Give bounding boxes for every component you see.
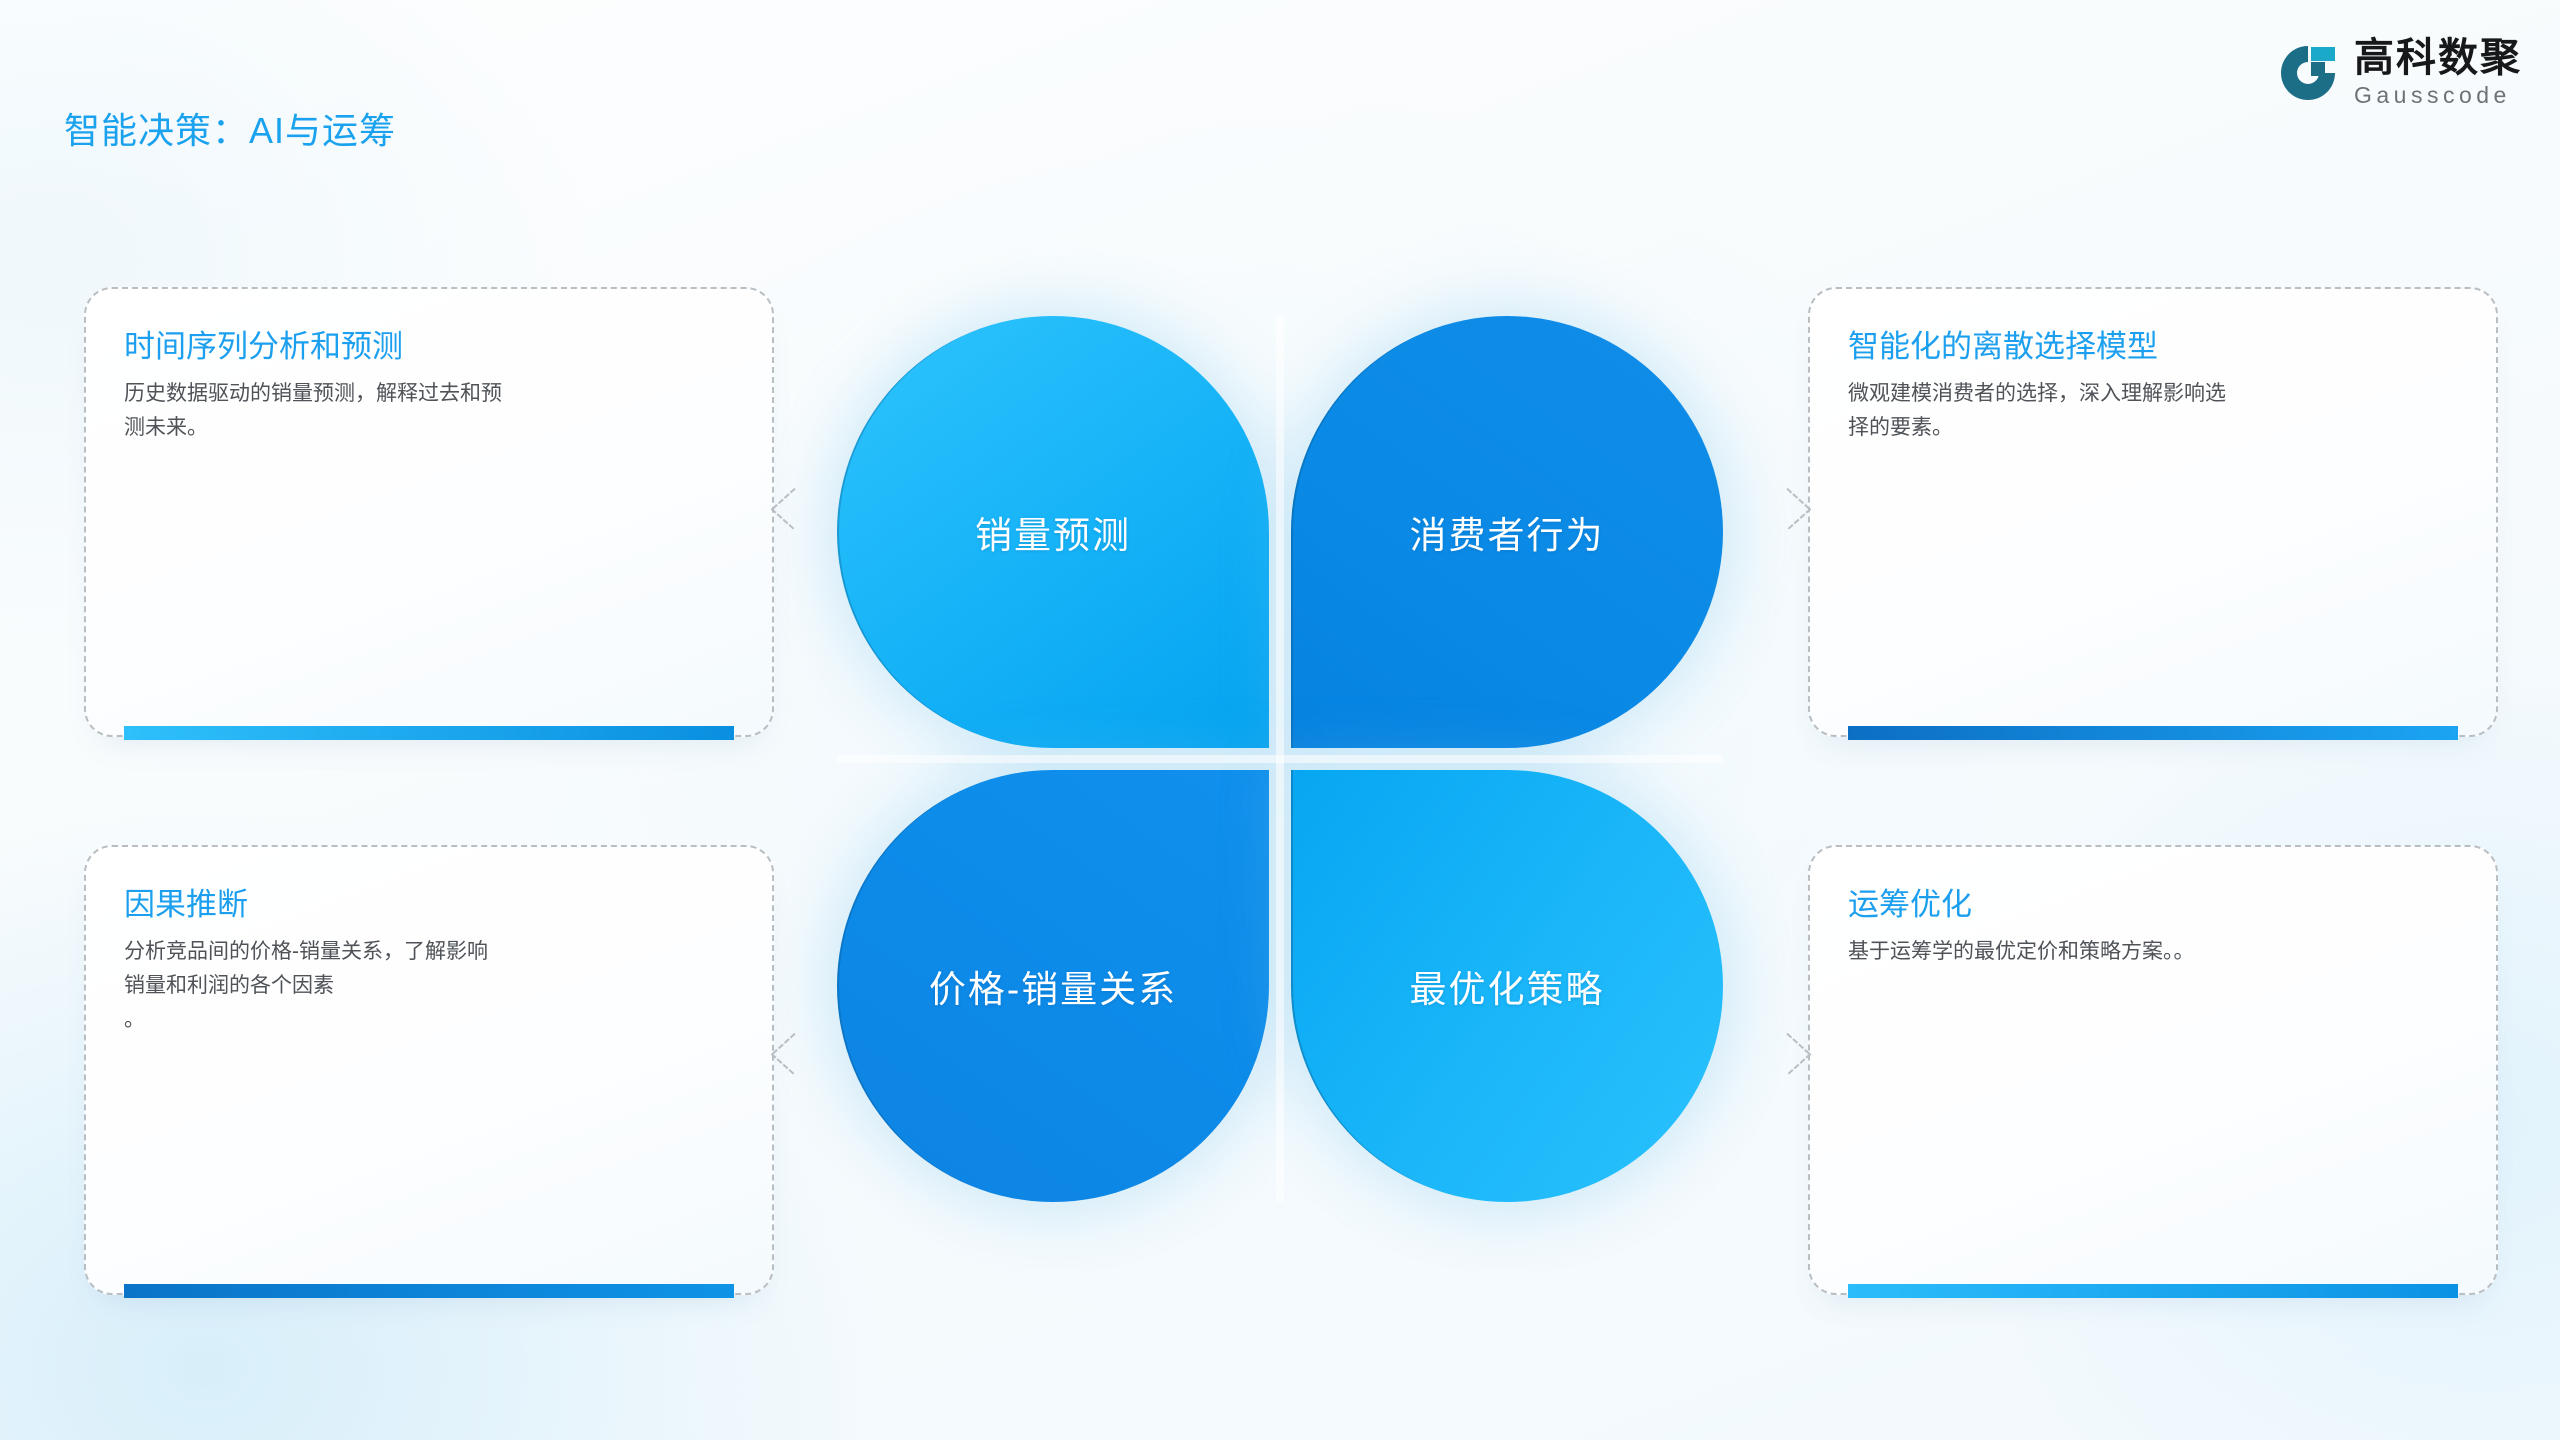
card-title: 智能化的离散选择模型: [1848, 321, 2158, 366]
brand-name-en: Gausscode: [2354, 84, 2522, 107]
card-body: 分析竞品间的价格-销量关系，了解影响 销量和利润的各个因素 。: [124, 935, 738, 1037]
petal-bottom-right[interactable]: 最优化策略: [1291, 770, 1723, 1202]
card-time-series[interactable]: 时间序列分析和预测 历史数据驱动的销量预测，解释过去和预 测未来。: [84, 287, 774, 737]
petal-bottom-right-surface: 最优化策略: [1291, 770, 1723, 1202]
card-body: 基于运筹学的最优定价和策略方案。。: [1848, 935, 2462, 969]
connector-chevron-bottom-left: [772, 1024, 816, 1082]
petal-bottom-right-label: 最优化策略: [1410, 959, 1605, 1013]
petal-top-right[interactable]: 消费者行为: [1291, 316, 1723, 748]
card-body: 历史数据驱动的销量预测，解释过去和预 测未来。: [124, 377, 738, 445]
brand-logo: 高科数聚 Gausscode: [2278, 38, 2522, 107]
petal-bottom-left-surface: 价格-销量关系: [837, 770, 1269, 1202]
connector-chevron-bottom-right: [1766, 1024, 1810, 1082]
card-discrete-choice-model[interactable]: 智能化的离散选择模型 微观建模消费者的选择，深入理解影响选 择的要素。: [1808, 287, 2498, 737]
petal-top-left-surface: 销量预测: [837, 316, 1269, 748]
brand-logo-text: 高科数聚 Gausscode: [2354, 38, 2522, 107]
card-title: 因果推断: [124, 879, 248, 924]
card-accent-bar: [124, 726, 734, 740]
gausscode-g-mark-icon: [2278, 43, 2338, 103]
brand-name-cn: 高科数聚: [2354, 38, 2522, 78]
petal-bottom-left[interactable]: 价格-销量关系: [837, 770, 1269, 1202]
connector-chevron-top-left: [772, 479, 816, 537]
card-operations-optimization[interactable]: 运筹优化 基于运筹学的最优定价和策略方案。。: [1808, 845, 2498, 1295]
petal-top-left[interactable]: 销量预测: [837, 316, 1269, 748]
petal-top-right-label: 消费者行为: [1410, 505, 1605, 559]
page-title: 智能决策：AI与运筹: [64, 102, 396, 154]
petal-top-right-surface: 消费者行为: [1291, 316, 1723, 748]
four-petal-diagram: 销量预测 消费者行为 价格-销量关系 最优化策略: [837, 316, 1723, 1202]
card-body: 微观建模消费者的选择，深入理解影响选 择的要素。: [1848, 377, 2462, 445]
petal-bottom-left-label: 价格-销量关系: [929, 959, 1177, 1013]
card-accent-bar: [1848, 726, 2458, 740]
card-title: 时间序列分析和预测: [124, 321, 403, 366]
petal-top-left-label: 销量预测: [975, 505, 1131, 559]
card-accent-bar: [124, 1284, 734, 1298]
card-title: 运筹优化: [1848, 879, 1972, 924]
card-causal-inference[interactable]: 因果推断 分析竞品间的价格-销量关系，了解影响 销量和利润的各个因素 。: [84, 845, 774, 1295]
connector-chevron-top-right: [1766, 479, 1810, 537]
card-accent-bar: [1848, 1284, 2458, 1298]
petal-divider-horizontal: [837, 755, 1723, 763]
